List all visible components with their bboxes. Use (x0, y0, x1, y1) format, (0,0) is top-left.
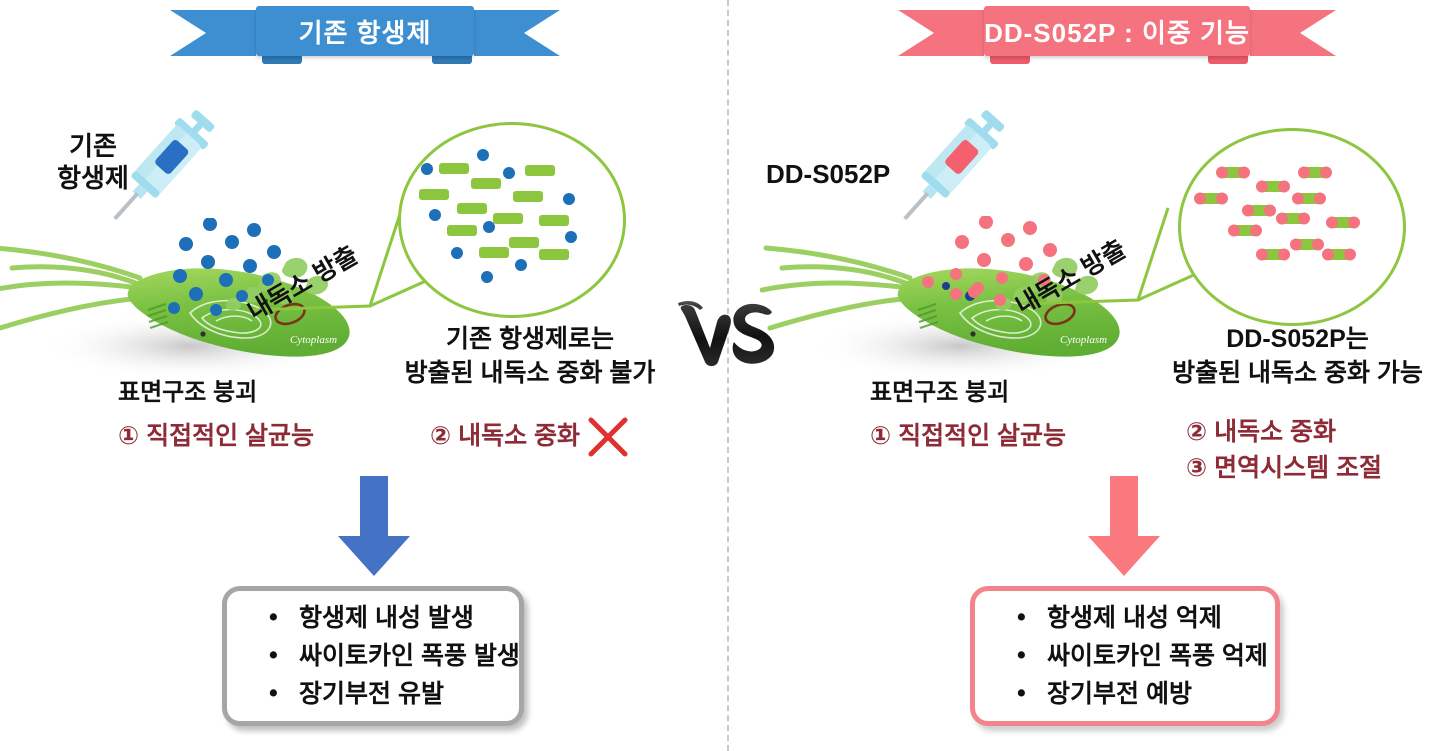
left-arrow-icon (330, 476, 418, 576)
left-point-2-row: ② 내독소 중화 (430, 418, 650, 462)
left-point-1: ① 직접적인 살균능 (118, 418, 438, 454)
left-banner: 기존 항생제 (170, 6, 560, 60)
left-outcome-list: 항생제 내성 발생 싸이토카인 폭풍 발생 장기부전 유발 (269, 599, 519, 713)
right-banner-title: DD-S052P : 이중 기능 (984, 6, 1250, 56)
left-bubble-caption-line1: 기존 항생제로는 (380, 322, 680, 356)
right-banner-tail-left (898, 10, 984, 56)
figure-canvas: 기존 항생제 기존 항생제 (0, 0, 1455, 751)
left-banner-title: 기존 항생제 (256, 6, 474, 56)
right-outcome-item: 싸이토카인 폭풍 억제 (1017, 637, 1275, 675)
left-outcome-item: 싸이토카인 폭풍 발생 (269, 637, 519, 675)
right-banner-foot-left (990, 56, 1030, 64)
right-point-2: ② 내독소 중화 (1186, 414, 1455, 450)
right-banner: DD-S052P : 이중 기능 (898, 6, 1336, 60)
left-injection-label: 기존 항생제 (38, 130, 148, 194)
right-surface-label: 표면구조 붕괴 (870, 372, 1090, 407)
left-surface-label: 표면구조 붕괴 (118, 372, 338, 407)
right-point-3: ③ 면역시스템 조절 (1186, 450, 1455, 486)
left-outcome-item: 항생제 내성 발생 (269, 599, 519, 637)
left-endotoxin-bubble (398, 122, 626, 318)
right-bubble-caption-line1: DD-S052P는 (1140, 322, 1455, 356)
left-banner-foot-left (262, 56, 302, 64)
right-bubble-caption-line2: 방출된 내독소 중화 가능 (1140, 356, 1455, 390)
left-banner-foot-right (432, 56, 472, 64)
left-banner-tail-right (474, 10, 560, 56)
left-outcome-item: 장기부전 유발 (269, 675, 519, 713)
right-outcome-list: 항생제 내성 억제 싸이토카인 폭풍 억제 장기부전 예방 (1017, 599, 1275, 713)
right-bubble-caption: DD-S052P는 방출된 내독소 중화 가능 (1140, 322, 1455, 390)
center-divider (727, 0, 729, 751)
left-injection-label-line1: 기존 (38, 130, 148, 162)
right-neutralized-bubble (1178, 128, 1406, 326)
left-outcome-box: 항생제 내성 발생 싸이토카인 폭풍 발생 장기부전 유발 (222, 586, 524, 726)
right-outcome-item: 항생제 내성 억제 (1017, 599, 1275, 637)
left-point-2: ② 내독소 중화 (430, 418, 580, 454)
left-bubble-caption-line2: 방출된 내독소 중화 불가 (380, 356, 680, 390)
left-bubble-caption: 기존 항생제로는 방출된 내독소 중화 불가 (380, 322, 680, 390)
right-arrow-icon (1080, 476, 1168, 576)
left-banner-tail-left (170, 10, 256, 56)
cross-mark-icon (585, 414, 631, 460)
right-banner-tail-right (1250, 10, 1336, 56)
left-injection-label-line2: 항생제 (38, 162, 148, 194)
right-outcome-item: 장기부전 예방 (1017, 675, 1275, 713)
right-outcome-box: 항생제 내성 억제 싸이토카인 폭풍 억제 장기부전 예방 (970, 586, 1280, 726)
right-point-1: ① 직접적인 살균능 (870, 418, 1190, 454)
right-injection-label: DD-S052P (766, 158, 946, 190)
right-banner-foot-right (1208, 56, 1248, 64)
